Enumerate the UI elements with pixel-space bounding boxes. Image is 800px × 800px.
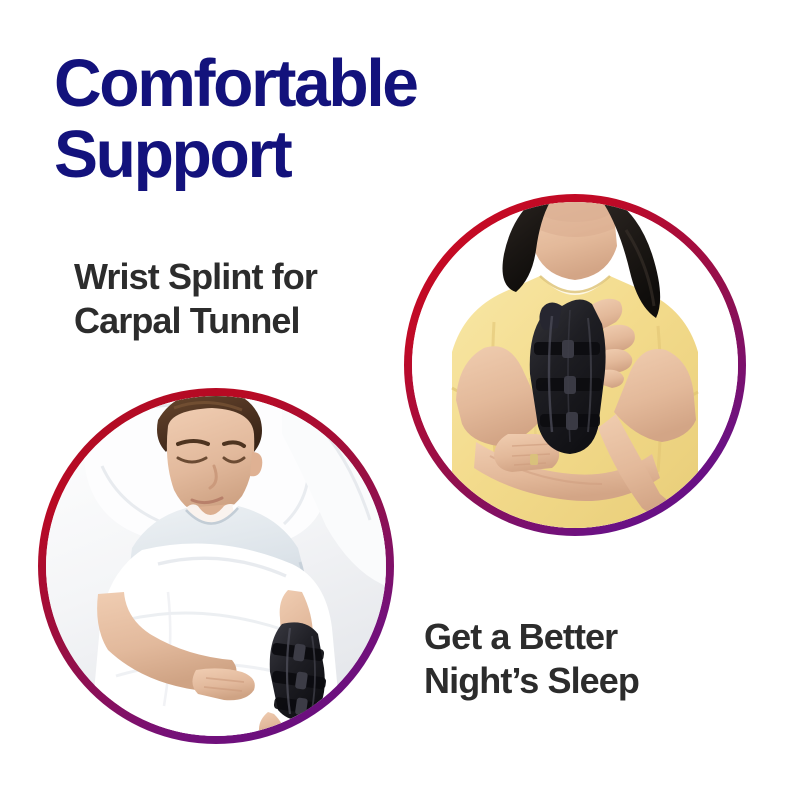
benefit-caption: Get a Better Night’s Sleep bbox=[424, 615, 754, 703]
page-title: Comfortable Support bbox=[54, 48, 566, 190]
illustration-man-sleeping-with-splint bbox=[46, 396, 386, 736]
badge-photo-woman bbox=[412, 202, 738, 528]
badge-photo-sleeper bbox=[46, 396, 386, 736]
photo-badge-man-sleeping-with-splint bbox=[38, 388, 394, 744]
product-subtitle: Wrist Splint for Carpal Tunnel bbox=[74, 255, 414, 343]
photo-badge-woman-wearing-splint bbox=[404, 194, 746, 536]
wrist-splint-product bbox=[530, 299, 606, 454]
product-marketing-graphic: Comfortable Support Wrist Splint for Car… bbox=[0, 0, 800, 800]
illustration-woman-wearing-splint bbox=[412, 202, 738, 528]
